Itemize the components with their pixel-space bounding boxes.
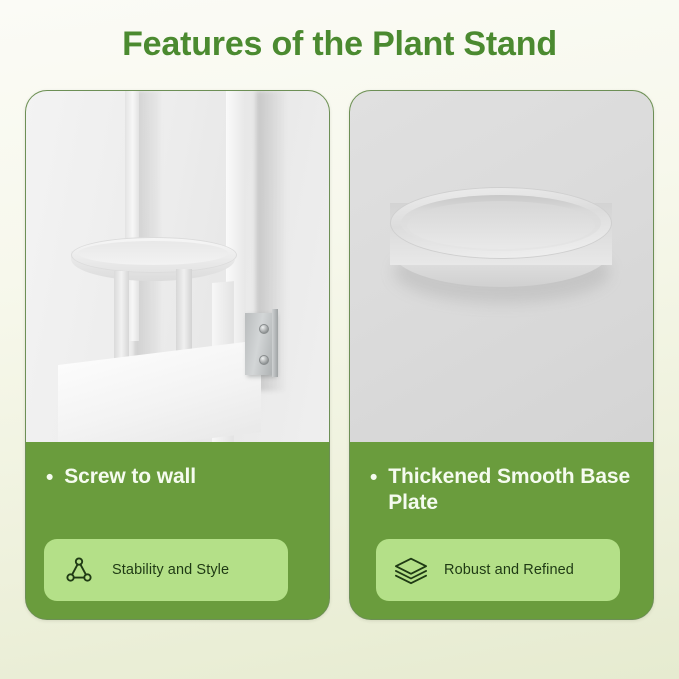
feature-infographic: Features of the Plant Stand	[0, 0, 679, 679]
feature-heading-text: Screw to wall	[64, 464, 196, 490]
feature-tag-stability: Stability and Style	[44, 539, 288, 601]
feature-heading-right: • Thickened Smooth Base Plate	[370, 464, 633, 517]
stand-front-panel	[58, 340, 261, 442]
product-photo-wall-mount	[26, 91, 329, 442]
bullet-icon: •	[46, 465, 53, 491]
base-plate-floor	[407, 201, 595, 249]
wall-bracket-lip	[272, 309, 278, 377]
feature-info-panel-left: • Screw to wall Stabili	[26, 442, 329, 620]
feature-info-panel-right: • Thickened Smooth Base Plate Robust and…	[350, 442, 653, 620]
feature-card-base-plate: • Thickened Smooth Base Plate Robust and…	[349, 90, 654, 620]
feature-cards-row: • Screw to wall Stabili	[25, 90, 654, 620]
page-title: Features of the Plant Stand	[0, 24, 679, 65]
product-photo-base-plate	[350, 91, 653, 442]
triangle-nodes-icon	[62, 553, 96, 587]
layers-stack-icon	[394, 553, 428, 587]
stand-tray-surface	[78, 241, 228, 265]
bracket-screw-top	[259, 324, 269, 334]
bullet-icon: •	[370, 465, 377, 491]
feature-tag-robust: Robust and Refined	[376, 539, 620, 601]
feature-tag-label-left: Stability and Style	[112, 562, 229, 578]
feature-heading-text: Thickened Smooth Base Plate	[388, 464, 633, 517]
feature-heading-left: • Screw to wall	[46, 464, 309, 491]
wall-bracket-plate	[245, 313, 275, 375]
feature-tag-label-right: Robust and Refined	[444, 562, 574, 578]
bracket-screw-bottom	[259, 355, 269, 365]
feature-card-screw-to-wall: • Screw to wall Stabili	[25, 90, 330, 620]
